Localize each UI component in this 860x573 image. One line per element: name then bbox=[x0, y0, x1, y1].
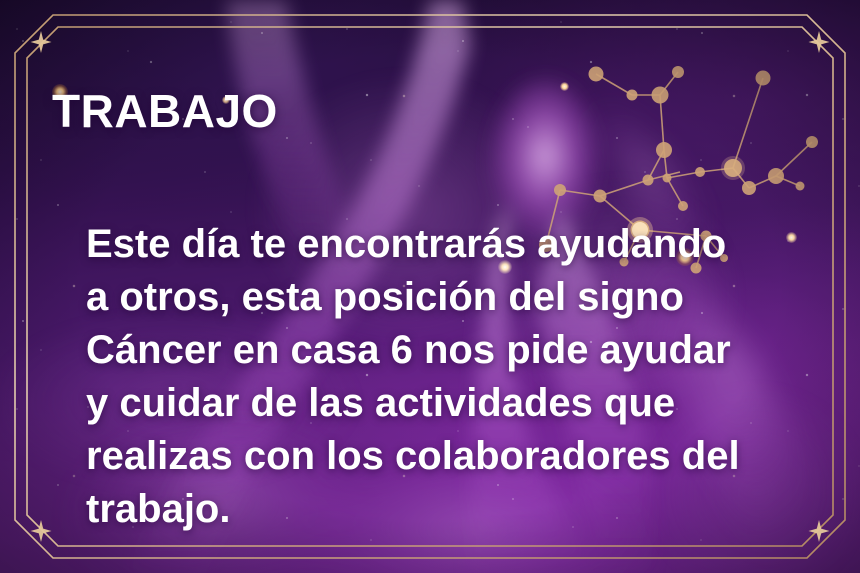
body-line: trabajo. bbox=[86, 483, 786, 536]
page-title: TRABAJO bbox=[52, 88, 278, 134]
body-line: realizas con los colaboradores del bbox=[86, 430, 786, 483]
horoscope-card: TRABAJO Este día te encontrarás ayudando… bbox=[0, 0, 860, 573]
glow-star bbox=[560, 82, 569, 91]
glow-star bbox=[786, 232, 797, 243]
body-line: Este día te encontrarás ayudando bbox=[86, 218, 786, 271]
body-line: a otros, esta posición del signo bbox=[86, 271, 786, 324]
horoscope-body-text: Este día te encontrarás ayudando a otros… bbox=[86, 218, 786, 536]
body-line: Cáncer en casa 6 nos pide ayudar bbox=[86, 324, 786, 377]
body-line: y cuidar de las actividades que bbox=[86, 377, 786, 430]
